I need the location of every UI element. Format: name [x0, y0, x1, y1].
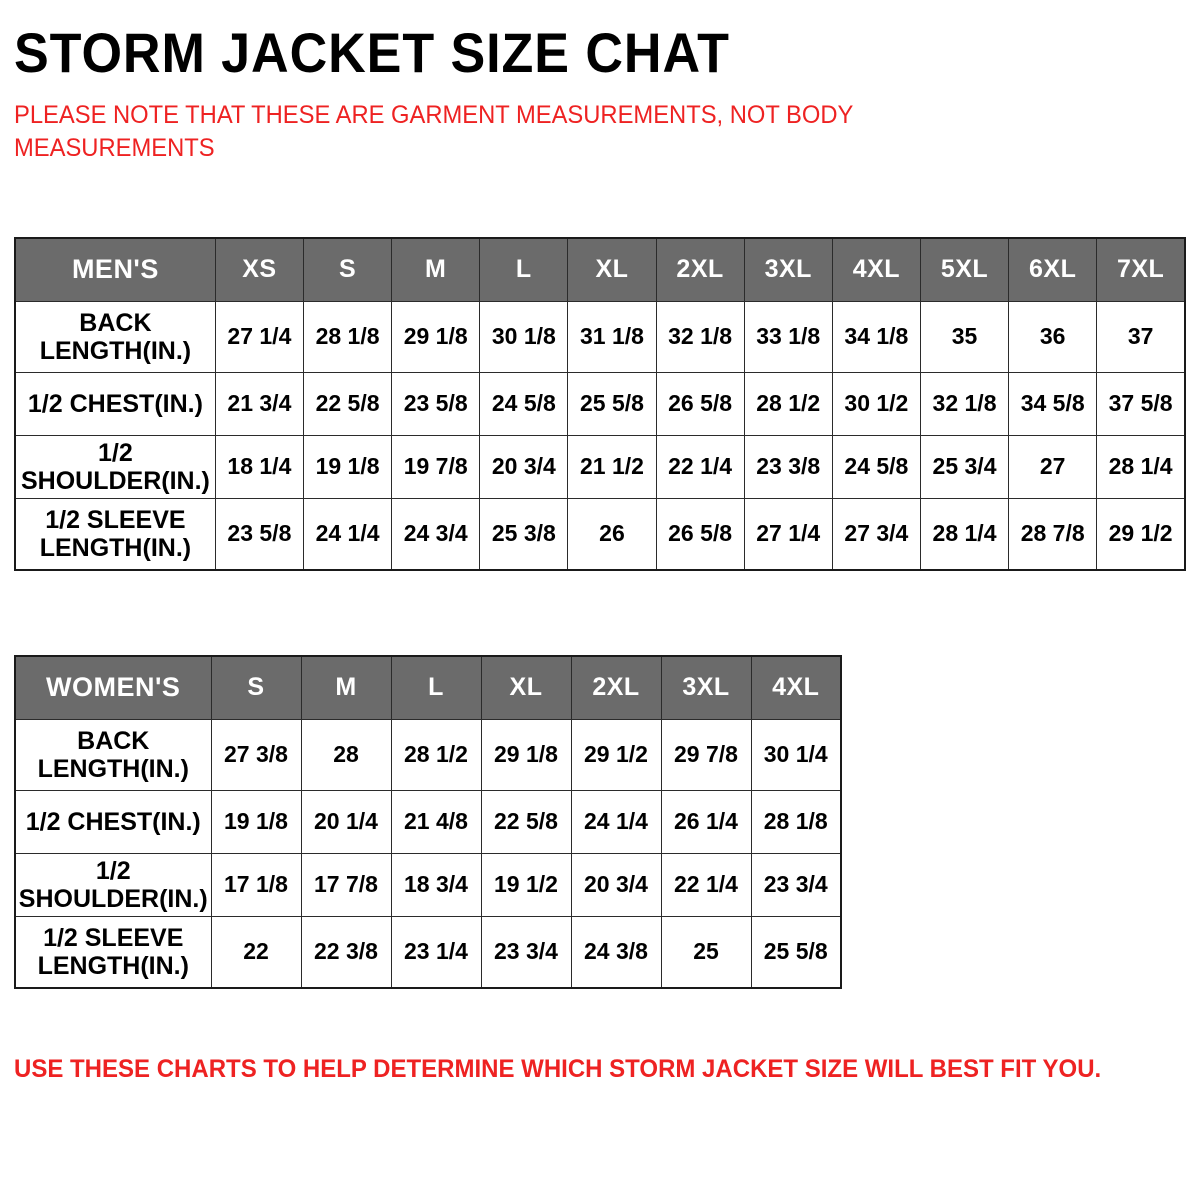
mens-row-label-back-length: BACK LENGTH(IN.) — [15, 301, 215, 372]
cell: 36 — [1009, 301, 1097, 372]
cell: 28 1/2 — [744, 372, 832, 435]
mens-row-label-half-sleeve-length: 1/2 SLEEVE LENGTH(IN.) — [15, 498, 215, 570]
cell: 29 1/2 — [1097, 498, 1185, 570]
cell: 19 1/8 — [303, 435, 391, 498]
womens-col-xl: XL — [481, 656, 571, 720]
womens-size-table: WOMEN'S S M L XL 2XL 3XL 4XL BACK LENGTH… — [14, 655, 842, 989]
cell: 23 1/4 — [391, 916, 481, 988]
womens-col-2xl: 2XL — [571, 656, 661, 720]
cell: 26 5/8 — [656, 372, 744, 435]
cell: 24 1/4 — [571, 790, 661, 853]
cell: 24 3/8 — [571, 916, 661, 988]
cell: 27 1/4 — [744, 498, 832, 570]
mens-table-body: BACK LENGTH(IN.) 27 1/4 28 1/8 29 1/8 30… — [15, 301, 1185, 570]
womens-header-row: WOMEN'S S M L XL 2XL 3XL 4XL — [15, 656, 841, 720]
cell: 24 5/8 — [480, 372, 568, 435]
mens-table-header: MEN'S XS S M L XL 2XL 3XL 4XL 5XL 6XL 7X… — [15, 238, 1185, 302]
cell: 28 1/4 — [920, 498, 1008, 570]
cell: 30 1/2 — [832, 372, 920, 435]
cell: 23 5/8 — [392, 372, 480, 435]
womens-table-header: WOMEN'S S M L XL 2XL 3XL 4XL — [15, 656, 841, 720]
womens-row-label-half-chest: 1/2 CHEST(IN.) — [15, 790, 211, 853]
womens-col-4xl: 4XL — [751, 656, 841, 720]
cell: 26 — [568, 498, 656, 570]
cell: 30 1/8 — [480, 301, 568, 372]
table-row: 1/2 SLEEVE LENGTH(IN.) 22 22 3/8 23 1/4 … — [15, 916, 841, 988]
cell: 33 1/8 — [744, 301, 832, 372]
mens-size-table: MEN'S XS S M L XL 2XL 3XL 4XL 5XL 6XL 7X… — [14, 237, 1186, 571]
womens-col-s: S — [211, 656, 301, 720]
table-row: 1/2 SHOULDER(IN.) 17 1/8 17 7/8 18 3/4 1… — [15, 853, 841, 916]
cell: 17 1/8 — [211, 853, 301, 916]
table-row: 1/2 SLEEVE LENGTH(IN.) 23 5/8 24 1/4 24 … — [15, 498, 1185, 570]
cell: 21 3/4 — [215, 372, 303, 435]
cell: 24 5/8 — [832, 435, 920, 498]
cell: 22 1/4 — [661, 853, 751, 916]
mens-row-label-half-shoulder: 1/2 SHOULDER(IN.) — [15, 435, 215, 498]
cell: 37 5/8 — [1097, 372, 1185, 435]
cell: 25 3/8 — [480, 498, 568, 570]
cell: 29 1/8 — [392, 301, 480, 372]
cell: 27 3/8 — [211, 719, 301, 790]
cell: 31 1/8 — [568, 301, 656, 372]
cell: 35 — [920, 301, 1008, 372]
cell: 21 4/8 — [391, 790, 481, 853]
mens-header-row: MEN'S XS S M L XL 2XL 3XL 4XL 5XL 6XL 7X… — [15, 238, 1185, 302]
womens-col-l: L — [391, 656, 481, 720]
mens-col-4xl: 4XL — [832, 238, 920, 302]
cell: 25 5/8 — [751, 916, 841, 988]
cell: 24 3/4 — [392, 498, 480, 570]
cell: 29 1/2 — [571, 719, 661, 790]
mens-col-xl: XL — [568, 238, 656, 302]
cell: 25 — [661, 916, 751, 988]
cell: 25 3/4 — [920, 435, 1008, 498]
mens-col-3xl: 3XL — [744, 238, 832, 302]
cell: 19 1/8 — [211, 790, 301, 853]
mens-col-l: L — [480, 238, 568, 302]
cell: 22 5/8 — [303, 372, 391, 435]
womens-col-m: M — [301, 656, 391, 720]
cell: 18 1/4 — [215, 435, 303, 498]
cell: 26 5/8 — [656, 498, 744, 570]
mens-col-5xl: 5XL — [920, 238, 1008, 302]
cell: 28 1/4 — [1097, 435, 1185, 498]
cell: 25 5/8 — [568, 372, 656, 435]
womens-row-label-half-sleeve-length: 1/2 SLEEVE LENGTH(IN.) — [15, 916, 211, 988]
cell: 22 — [211, 916, 301, 988]
cell: 32 1/8 — [920, 372, 1008, 435]
table-row: 1/2 CHEST(IN.) 21 3/4 22 5/8 23 5/8 24 5… — [15, 372, 1185, 435]
cell: 30 1/4 — [751, 719, 841, 790]
womens-table-body: BACK LENGTH(IN.) 27 3/8 28 28 1/2 29 1/8… — [15, 719, 841, 988]
cell: 19 7/8 — [392, 435, 480, 498]
size-chart-page: STORM JACKET SIZE CHAT PLEASE NOTE THAT … — [0, 0, 1200, 1200]
cell: 23 3/4 — [481, 916, 571, 988]
cell: 18 3/4 — [391, 853, 481, 916]
cell: 27 1/4 — [215, 301, 303, 372]
cell: 32 1/8 — [656, 301, 744, 372]
cell: 28 — [301, 719, 391, 790]
mens-col-xs: XS — [215, 238, 303, 302]
cell: 22 3/8 — [301, 916, 391, 988]
cell: 37 — [1097, 301, 1185, 372]
cell: 28 1/8 — [751, 790, 841, 853]
usage-guidance-note: USE THESE CHARTS TO HELP DETERMINE WHICH… — [14, 1055, 1101, 1084]
womens-col-3xl: 3XL — [661, 656, 751, 720]
mens-col-s: S — [303, 238, 391, 302]
mens-corner-label: MEN'S — [15, 238, 215, 302]
mens-col-2xl: 2XL — [656, 238, 744, 302]
table-row: 1/2 SHOULDER(IN.) 18 1/4 19 1/8 19 7/8 2… — [15, 435, 1185, 498]
table-row: 1/2 CHEST(IN.) 19 1/8 20 1/4 21 4/8 22 5… — [15, 790, 841, 853]
cell: 21 1/2 — [568, 435, 656, 498]
cell: 19 1/2 — [481, 853, 571, 916]
cell: 34 1/8 — [832, 301, 920, 372]
page-title: STORM JACKET SIZE CHAT — [14, 0, 1104, 83]
cell: 22 5/8 — [481, 790, 571, 853]
cell: 17 7/8 — [301, 853, 391, 916]
mens-row-label-half-chest: 1/2 CHEST(IN.) — [15, 372, 215, 435]
womens-corner-label: WOMEN'S — [15, 656, 211, 720]
cell: 29 1/8 — [481, 719, 571, 790]
cell: 26 1/4 — [661, 790, 751, 853]
cell: 23 5/8 — [215, 498, 303, 570]
mens-col-6xl: 6XL — [1009, 238, 1097, 302]
cell: 20 3/4 — [571, 853, 661, 916]
cell: 20 1/4 — [301, 790, 391, 853]
table-row: BACK LENGTH(IN.) 27 1/4 28 1/8 29 1/8 30… — [15, 301, 1185, 372]
cell: 34 5/8 — [1009, 372, 1097, 435]
womens-row-label-half-shoulder: 1/2 SHOULDER(IN.) — [15, 853, 211, 916]
mens-col-7xl: 7XL — [1097, 238, 1185, 302]
cell: 22 1/4 — [656, 435, 744, 498]
cell: 28 1/2 — [391, 719, 481, 790]
cell: 23 3/8 — [744, 435, 832, 498]
cell: 28 1/8 — [303, 301, 391, 372]
measurement-disclaimer-note: PLEASE NOTE THAT THESE ARE GARMENT MEASU… — [14, 99, 926, 165]
cell: 29 7/8 — [661, 719, 751, 790]
womens-row-label-back-length: BACK LENGTH(IN.) — [15, 719, 211, 790]
cell: 27 — [1009, 435, 1097, 498]
cell: 27 3/4 — [832, 498, 920, 570]
cell: 23 3/4 — [751, 853, 841, 916]
cell: 28 7/8 — [1009, 498, 1097, 570]
cell: 20 3/4 — [480, 435, 568, 498]
table-row: BACK LENGTH(IN.) 27 3/8 28 28 1/2 29 1/8… — [15, 719, 841, 790]
mens-col-m: M — [392, 238, 480, 302]
cell: 24 1/4 — [303, 498, 391, 570]
